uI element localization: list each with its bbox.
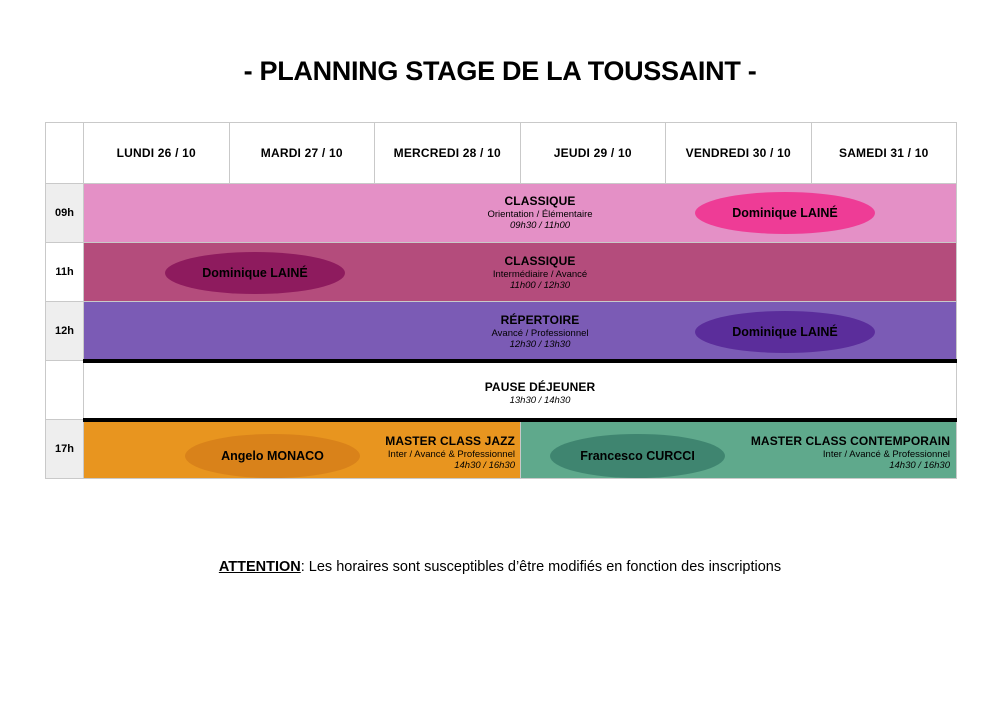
time-label-09h: 09h xyxy=(46,184,84,243)
time-label-17h: 17h xyxy=(46,420,84,479)
time-label-11h: 11h xyxy=(46,243,84,302)
slot-17h-contemporain xyxy=(520,420,957,479)
table-row-12h: 12h xyxy=(46,302,957,361)
planning-page: - PLANNING STAGE DE LA TOUSSAINT - LUNDI… xyxy=(0,0,1000,707)
table-row-pause xyxy=(46,361,957,420)
slot-09h-classique xyxy=(84,184,957,243)
day-header-mardi: MARDI 27 / 10 xyxy=(229,123,375,184)
day-header-mercredi: MERCREDI 28 / 10 xyxy=(375,123,521,184)
table-row-11h: 11h xyxy=(46,243,957,302)
table-header-row: LUNDI 26 / 10 MARDI 27 / 10 MERCREDI 28 … xyxy=(46,123,957,184)
footer-notice: ATTENTION: Les horaires sont susceptible… xyxy=(0,559,1000,575)
page-title: - PLANNING STAGE DE LA TOUSSAINT - xyxy=(0,56,1000,87)
day-header-jeudi: JEUDI 29 / 10 xyxy=(520,123,666,184)
header-corner-cell xyxy=(46,123,84,184)
table-row-17h: 17h xyxy=(46,420,957,479)
attention-text: : Les horaires sont susceptibles d’être … xyxy=(301,559,781,575)
slot-17h-jazz xyxy=(84,420,521,479)
day-header-samedi: SAMEDI 31 / 10 xyxy=(811,123,957,184)
slot-12h-repertoire xyxy=(84,302,957,361)
day-header-lundi: LUNDI 26 / 10 xyxy=(84,123,230,184)
attention-label: ATTENTION xyxy=(219,559,301,575)
slot-pause-dejeuner xyxy=(84,361,957,420)
slot-11h-classique xyxy=(84,243,957,302)
planning-table: LUNDI 26 / 10 MARDI 27 / 10 MERCREDI 28 … xyxy=(45,122,957,479)
day-header-vendredi: VENDREDI 30 / 10 xyxy=(666,123,812,184)
table-row-09h: 09h xyxy=(46,184,957,243)
time-label-12h: 12h xyxy=(46,302,84,361)
time-label-pause xyxy=(46,361,84,420)
